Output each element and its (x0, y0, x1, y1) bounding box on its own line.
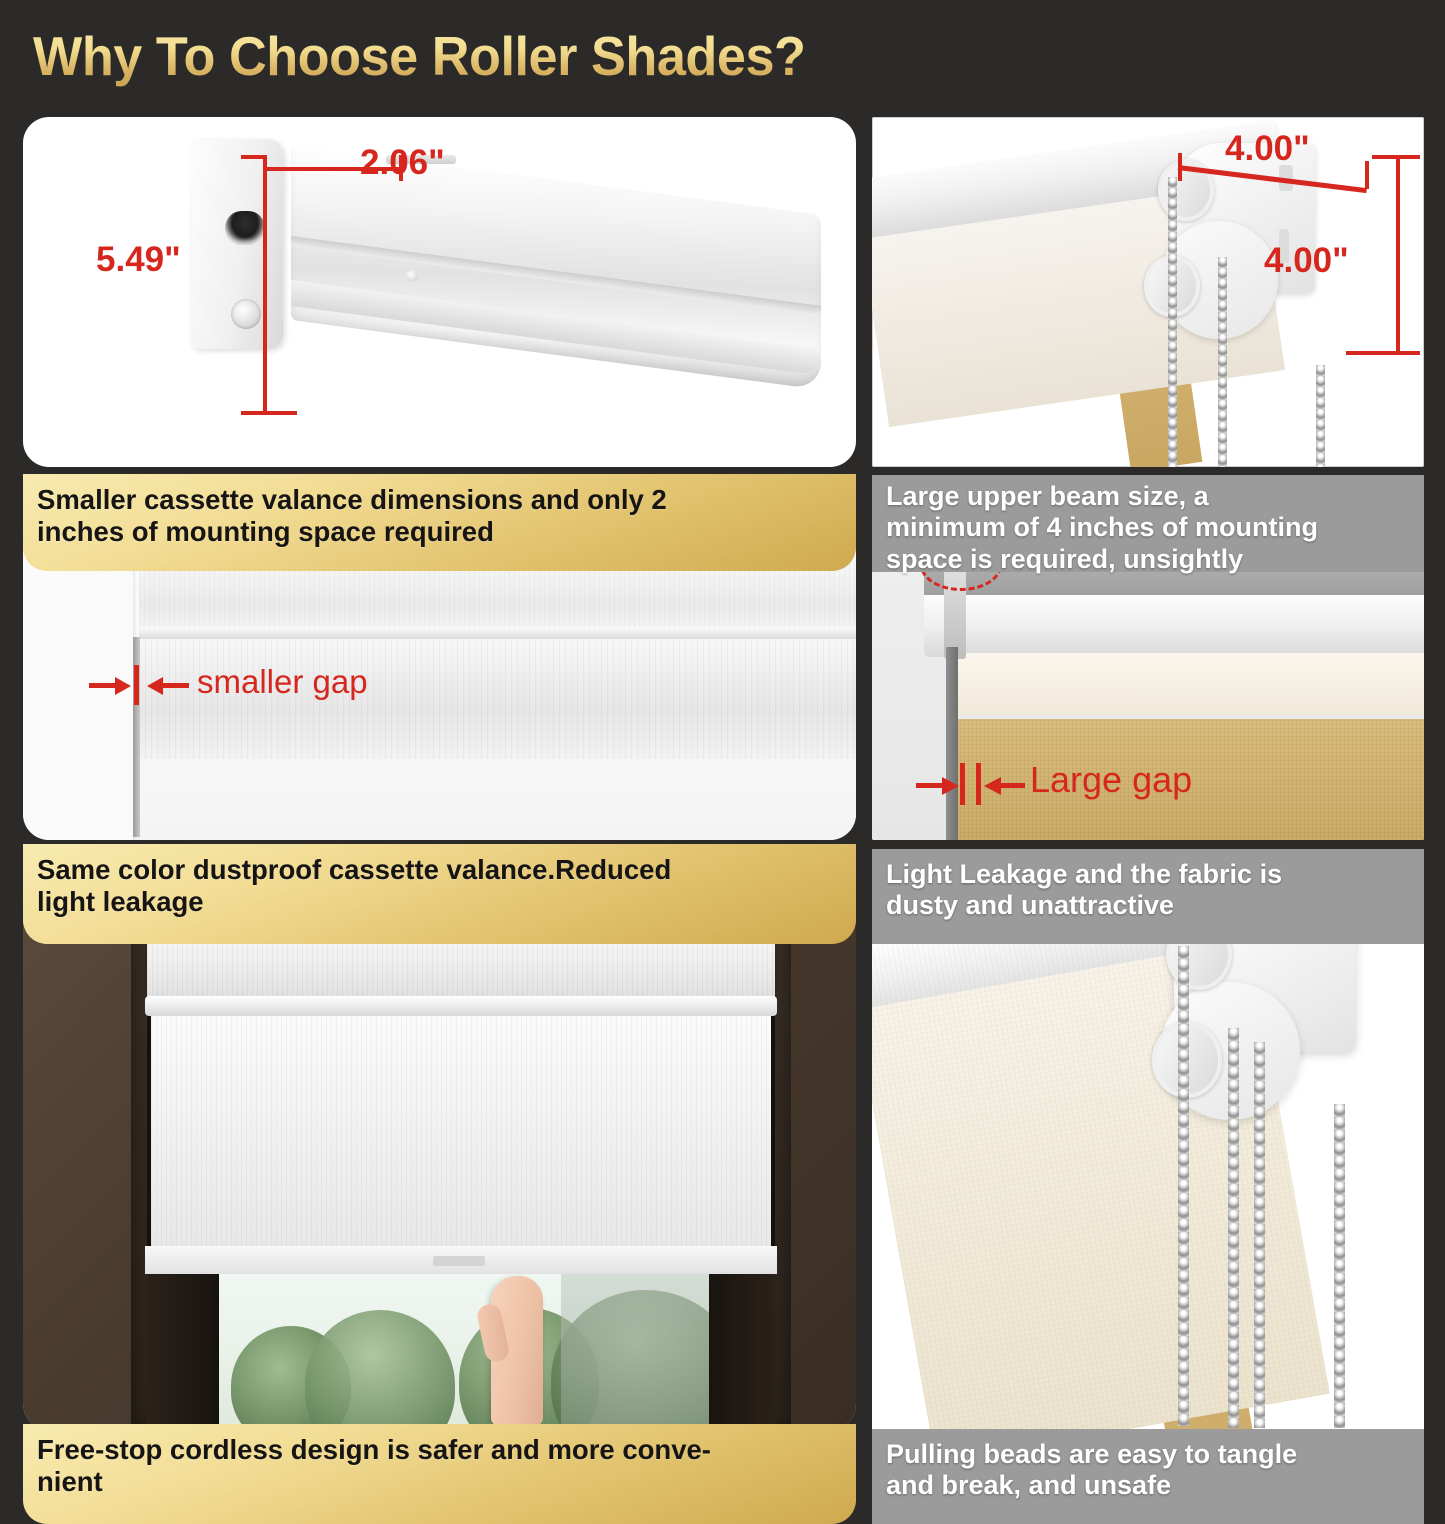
beam-height-line (1396, 155, 1400, 355)
gap-marker-line (134, 665, 139, 705)
gap-arrow-left-head-icon (115, 677, 131, 695)
bead-chain-middle (1218, 257, 1227, 467)
panel-pulling-beads-unsafe (872, 860, 1424, 1430)
beam-width-tick-right (1365, 161, 1369, 189)
caption-line: minimum of 4 inches of mounting (886, 512, 1410, 543)
height-dim-tick-bottom (241, 411, 297, 415)
panel-free-stop-cordless-design (23, 860, 856, 1430)
caption-cassette-valance-dimensions: Smaller cassette valance dimensions and … (23, 474, 856, 571)
caption-line: Light Leakage and the fabric is (886, 859, 1410, 890)
caption-line: Free-stop cordless design is safer and m… (37, 1434, 842, 1466)
height-dim-tick-top (241, 155, 267, 159)
gap-arrow-right-shaft (163, 683, 189, 688)
gap-post-indicator (946, 647, 958, 840)
title-bar: Why To Choose Roller Shades? (0, 0, 1445, 104)
cassette-valance-photo: 2.06" 5.49" (23, 117, 856, 467)
valance-bottom-rail (145, 996, 777, 1016)
caption-line: light leakage (37, 886, 842, 918)
pulling-beads-photo (872, 860, 1424, 1430)
caption-free-stop-cordless-design: Free-stop cordless design is safer and m… (23, 1424, 856, 1524)
cordless-window-scene-photo (23, 860, 856, 1430)
bead-chain-left (1168, 177, 1177, 467)
gap-marker-line-b (976, 763, 981, 805)
white-shade-fabric (151, 1016, 771, 1248)
glass-reflection-overlay (561, 1274, 709, 1430)
endcap-hole-icon (225, 211, 265, 245)
window-glass-view (219, 1274, 709, 1430)
caption-pulling-beads-unsafe: Pulling beads are easy to tangle and bre… (872, 1429, 1424, 1524)
gap-arrow-left-shaft (89, 683, 117, 688)
bead-chain-middle-2[interactable] (1254, 1042, 1265, 1428)
caption-line: dusty and unattractive (886, 890, 1410, 921)
bead-chain-right (1316, 365, 1325, 467)
window-jamb-left (147, 1274, 217, 1430)
large-upper-beam-photo: 4.00" 4.00" (872, 117, 1424, 467)
caption-dustproof-cassette-valance: Same color dustproof cassette valance.Re… (23, 844, 856, 944)
height-dim-line (263, 155, 267, 415)
caption-line: Pulling beads are easy to tangle (886, 1439, 1410, 1470)
shade-pull-handle[interactable] (433, 1256, 485, 1266)
beam-height-tick-top (1372, 155, 1420, 159)
bead-chain-left[interactable] (1178, 946, 1189, 1426)
comparison-grid: 2.06" 5.49" 4 (0, 104, 1445, 1445)
panel-large-upper-beam: 4.00" 4.00" (872, 117, 1424, 467)
bead-chain-middle[interactable] (1228, 1028, 1239, 1428)
bead-chain-right[interactable] (1334, 1104, 1345, 1428)
caption-line: and break, and unsafe (886, 1470, 1410, 1501)
large-gap-label: Large gap (1030, 759, 1192, 801)
beam-height-label: 4.00" (1264, 241, 1349, 281)
caption-line: Large upper beam size, a (886, 481, 1410, 512)
beam-height-tick-bottom (1346, 351, 1420, 355)
caption-line: Same color dustproof cassette valance.Re… (37, 854, 842, 886)
height-dimension-label: 5.49" (96, 240, 181, 280)
endcap-small-screw-icon (406, 270, 418, 282)
caption-line: inches of mounting space required (37, 516, 842, 548)
hand-pulling-shade (491, 1276, 543, 1426)
caption-line: Smaller cassette valance dimensions and … (37, 484, 842, 516)
caption-light-leakage-dusty-fabric: Light Leakage and the fabric is dusty an… (872, 849, 1424, 944)
panel-cassette-valance-dimensions: 2.06" 5.49" (23, 117, 856, 467)
gap-marker-line-a (960, 763, 965, 805)
endcap-screw-icon (231, 299, 261, 329)
caption-large-upper-beam: Large upper beam size, a minimum of 4 in… (872, 475, 1424, 572)
caption-line: space is required, unsightly (886, 544, 1410, 575)
gap-arrow-right-shaft (1001, 783, 1025, 788)
beam-width-label: 4.00" (1225, 129, 1310, 169)
gap-arrow-right-head-icon (147, 677, 163, 695)
width-dimension-label: 2.06" (360, 143, 445, 183)
caption-line: nient (37, 1466, 842, 1498)
upper-beam-face (924, 595, 1424, 657)
gap-arrow-right-head-icon (984, 777, 1001, 795)
smaller-gap-label: smaller gap (197, 663, 368, 701)
window-jamb-right (709, 1274, 775, 1430)
page-title: Why To Choose Roller Shades? (33, 24, 805, 88)
cream-valance-band (958, 653, 1424, 715)
gap-arrow-left-head-icon (942, 777, 959, 795)
tree-2-icon (305, 1310, 455, 1430)
